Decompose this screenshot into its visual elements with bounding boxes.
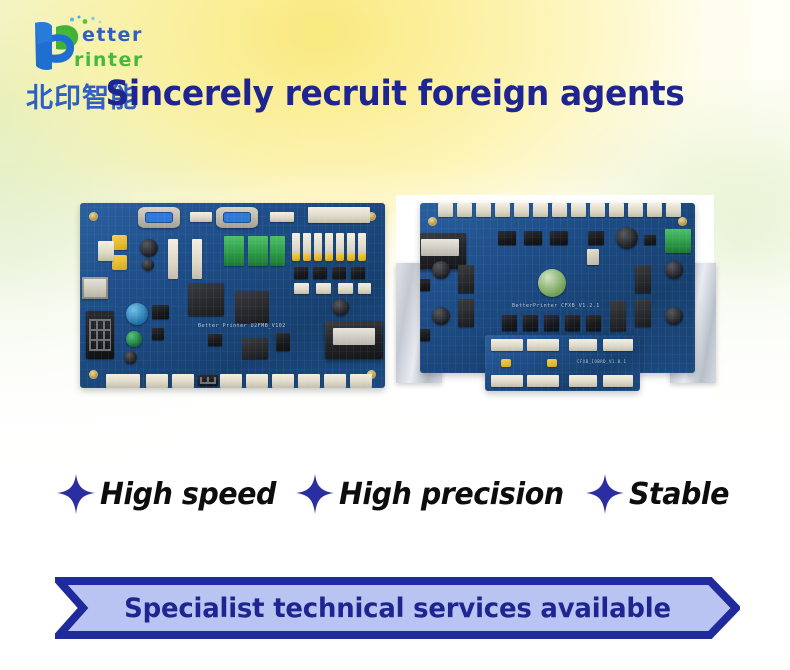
service-banner-text: Specialist technical services available xyxy=(69,577,727,639)
feature-item-high-precision: High precision xyxy=(295,473,575,515)
sparkle-star-icon xyxy=(295,473,335,515)
pcb-silkscreen-label: Better Printer U2FMB_V102 xyxy=(198,323,286,329)
logo-line2-text: rinter xyxy=(74,49,144,71)
product-photo-io-board: CFXB_IOBRD_V1.0.1 xyxy=(485,335,640,391)
feature-label-stable: Stable xyxy=(629,477,729,512)
product-photo-main-board: Better Printer U2FMB_V102 xyxy=(80,203,385,388)
pcb-silkscreen-label-io: CFXB_IOBRD_V1.0.1 xyxy=(577,359,626,364)
feature-item-stable: Stable xyxy=(585,473,734,515)
feature-label-high-precision: High precision xyxy=(339,477,564,512)
feature-list: High speed High precision Stable xyxy=(0,470,790,518)
feature-label-high-speed: High speed xyxy=(100,477,276,512)
service-banner: Specialist technical services available xyxy=(55,577,740,639)
sparkle-star-icon xyxy=(585,473,625,515)
page-title: Sincerely recruit foreign agents xyxy=(24,74,767,114)
feature-item-high-speed: High speed xyxy=(56,473,285,515)
logo-wordmark: etter rinter xyxy=(22,14,167,76)
pcb-silkscreen-label-right: BetterPrinter CFXB_V1.2.1 xyxy=(512,303,600,309)
product-photo-group: Better Printer U2FMB_V102 xyxy=(0,185,790,420)
sparkle-star-icon xyxy=(56,473,96,515)
promotional-poster: etter rinter 北印智能 Sincerely recruit fore… xyxy=(0,0,790,670)
logo-line1-text: etter xyxy=(82,24,143,46)
logo-monogram-icon: etter rinter xyxy=(22,14,167,76)
